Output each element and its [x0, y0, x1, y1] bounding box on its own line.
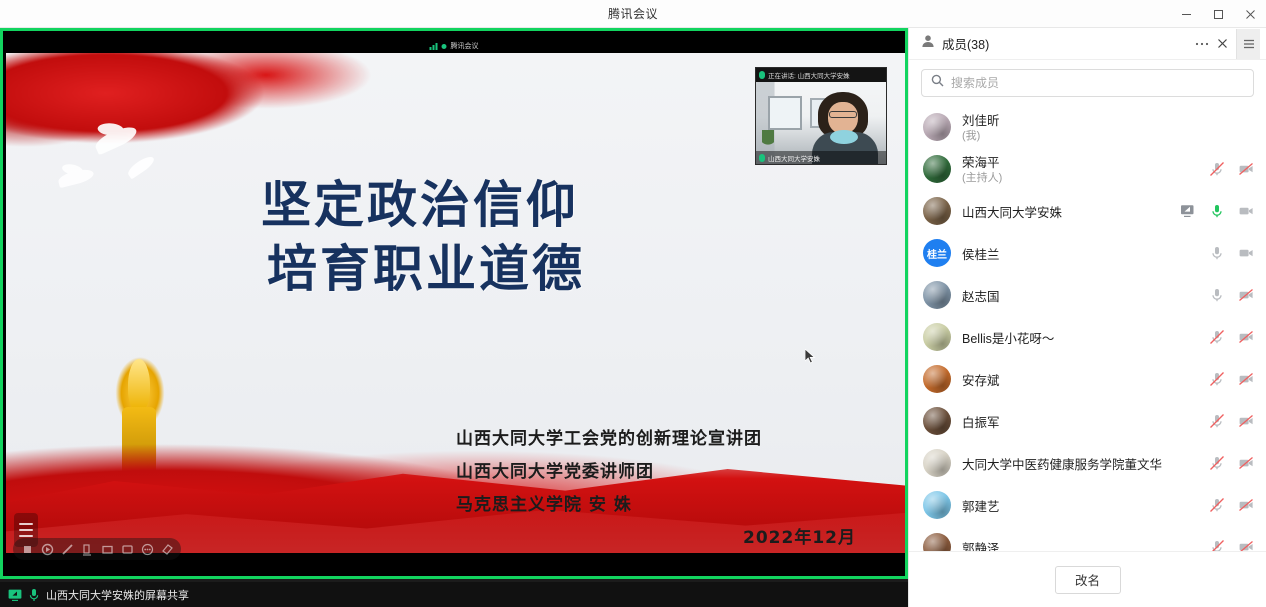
participant-name-block: Bellis是小花呀～	[962, 328, 1198, 347]
camera-off-icon[interactable]	[1238, 287, 1254, 303]
rename-button[interactable]: 改名	[1055, 566, 1121, 594]
participant-row[interactable]: 大同大学中医药健康服务学院董文华	[909, 442, 1266, 484]
share-inner: 腾讯会议 坚定政治信仰 培育职业道德 山西大同大学工会党的创新理论宣讲	[3, 31, 905, 576]
participant-name-block: 侯桂兰	[962, 244, 1198, 263]
mic-on-icon	[759, 71, 765, 79]
participant-row[interactable]: 刘佳昕(我)	[909, 106, 1266, 148]
participant-name: 赵志国	[962, 286, 1198, 305]
mic-muted-icon[interactable]	[1209, 161, 1225, 177]
panel-title: 成员(38)	[942, 34, 1192, 53]
slide-subtitle: 山西大同大学工会党的创新理论宣讲团 山西大同大学党委讲师团 马克思主义学院 安 …	[456, 423, 876, 553]
participant-name: 荣海平	[962, 152, 1198, 171]
person-icon	[921, 34, 935, 53]
participant-name-block: 安存斌	[962, 370, 1198, 389]
text-icon[interactable]	[118, 540, 136, 558]
mic-on-icon	[28, 588, 40, 602]
avatar	[923, 197, 951, 225]
mic-muted-icon[interactable]	[1209, 371, 1225, 387]
avatar: 桂兰	[923, 239, 951, 267]
participant-name: 大同大学中医药健康服务学院董文华	[962, 454, 1198, 473]
mic-on-icon	[759, 154, 765, 162]
participant-status-icons	[1209, 245, 1254, 261]
participant-row[interactable]: 安存斌	[909, 358, 1266, 400]
hamburger-icon[interactable]	[1236, 29, 1260, 59]
red-brush-decoration	[6, 53, 396, 173]
participant-role: (我)	[962, 129, 1198, 144]
participant-status-icons	[1209, 161, 1254, 177]
slide-date: 2022年12月	[456, 522, 876, 553]
participant-name-block: 刘佳昕(我)	[962, 110, 1198, 144]
camera-off-icon[interactable]	[1238, 455, 1254, 471]
pen-icon[interactable]	[58, 540, 76, 558]
participant-row[interactable]: 郭建艺	[909, 484, 1266, 526]
avatar	[923, 407, 951, 435]
participant-status-icons	[1209, 329, 1254, 345]
mic-muted-icon[interactable]	[1209, 539, 1225, 551]
share-status-text: 山西大同大学安姝的屏幕共享	[46, 587, 189, 603]
avatar	[923, 155, 951, 183]
participant-status-icons	[1209, 455, 1254, 471]
maximize-icon[interactable]	[1202, 0, 1234, 28]
pip-plant-decoration	[762, 130, 774, 150]
participant-status-icons	[1209, 497, 1254, 513]
panel-footer: 改名	[909, 551, 1266, 607]
participant-status-icons	[1209, 413, 1254, 429]
more-icon[interactable]	[1192, 32, 1212, 56]
slide-title-line1: 坚定政治信仰	[261, 173, 861, 237]
participant-name: 山西大同大学安姝	[962, 202, 1169, 221]
shape-icon[interactable]	[98, 540, 116, 558]
camera-off-icon[interactable]	[1238, 329, 1254, 345]
avatar	[923, 449, 951, 477]
participant-status-icons	[1209, 539, 1254, 551]
mouse-cursor	[805, 349, 817, 365]
pip-header: 正在讲话: 山西大同大学安姝	[756, 68, 886, 82]
participant-row[interactable]: 山西大同大学安姝	[909, 190, 1266, 232]
participant-name: 刘佳昕	[962, 110, 1198, 129]
share-status-bar: 山西大同大学安姝的屏幕共享	[0, 582, 908, 607]
search-input[interactable]	[951, 76, 1244, 90]
minimize-icon[interactable]	[1170, 0, 1202, 28]
slide-title-line2: 培育职业道德	[261, 237, 861, 301]
annotation-toolbar[interactable]	[13, 538, 181, 560]
meeting-indicator-pill[interactable]: 腾讯会议	[424, 39, 485, 53]
slide-title: 坚定政治信仰 培育职业道德	[261, 173, 861, 301]
participant-status-icons	[1180, 203, 1254, 219]
participant-name-block: 白振军	[962, 412, 1198, 431]
participant-row[interactable]: 赵志国	[909, 274, 1266, 316]
participants-panel: 成员(38) 刘佳昕(我)荣海平(主持人)山西大同大学安姝桂兰侯桂兰赵志国Bel…	[908, 28, 1266, 607]
participant-name-block: 赵志国	[962, 286, 1198, 305]
pip-footer: 山西大同大学安姝	[756, 151, 886, 164]
slide-subtitle-line3: 马克思主义学院 安 姝	[456, 489, 876, 522]
participant-name-block: 荣海平(主持人)	[962, 152, 1198, 186]
participant-name-block: 大同大学中医药健康服务学院董文华	[962, 454, 1198, 473]
avatar	[923, 281, 951, 309]
participant-row[interactable]: 白振军	[909, 400, 1266, 442]
panel-header: 成员(38)	[909, 28, 1266, 60]
pip-video-area: 山西大同大学安姝	[756, 82, 886, 164]
participant-status-icons	[1209, 287, 1254, 303]
camera-off-icon[interactable]	[1238, 497, 1254, 513]
participant-name: Bellis是小花呀～	[962, 328, 1198, 347]
participant-status-icons	[1209, 119, 1254, 135]
participant-status-icons	[1209, 371, 1254, 387]
mic-muted-icon[interactable]	[1209, 455, 1225, 471]
page-title: 腾讯会议	[608, 5, 658, 22]
eraser-icon[interactable]	[158, 540, 176, 558]
record-icon[interactable]	[38, 540, 56, 558]
slide-subtitle-line2: 山西大同大学党委讲师团	[456, 456, 876, 489]
more-icon[interactable]	[138, 540, 156, 558]
camera-on-icon[interactable]	[1238, 119, 1254, 135]
avatar	[923, 491, 951, 519]
participant-name: 白振军	[962, 412, 1198, 431]
camera-off-icon[interactable]	[1238, 413, 1254, 429]
mic-muted-icon[interactable]	[1209, 413, 1225, 429]
mic-on-icon[interactable]	[1209, 287, 1225, 303]
participant-row[interactable]: Bellis是小花呀～	[909, 316, 1266, 358]
recording-dot-icon	[442, 44, 447, 49]
camera-off-icon[interactable]	[1238, 539, 1254, 551]
participant-name-block: 郭静泽	[962, 538, 1198, 552]
pip-window-decoration	[768, 96, 802, 130]
avatar	[923, 365, 951, 393]
close-icon[interactable]	[1212, 32, 1232, 56]
camera-off-icon[interactable]	[1238, 371, 1254, 387]
participant-role: (主持人)	[962, 171, 1198, 186]
signal-icon	[430, 42, 438, 50]
participants-list[interactable]: 刘佳昕(我)荣海平(主持人)山西大同大学安姝桂兰侯桂兰赵志国Bellis是小花呀…	[909, 104, 1266, 551]
screen-share-icon	[1180, 203, 1196, 219]
participant-row[interactable]: 桂兰侯桂兰	[909, 232, 1266, 274]
search-box[interactable]	[921, 69, 1254, 97]
participant-name-block: 山西大同大学安姝	[962, 202, 1169, 221]
avatar	[923, 323, 951, 351]
search-wrapper	[909, 60, 1266, 104]
participant-name: 侯桂兰	[962, 244, 1198, 263]
presenter-video-thumbnail[interactable]: 正在讲话: 山西大同大学安姝	[755, 67, 887, 165]
camera-on-icon[interactable]	[1238, 245, 1254, 261]
search-icon	[931, 74, 944, 92]
mic-on-icon[interactable]	[1209, 203, 1225, 219]
share-frame: 腾讯会议 坚定政治信仰 培育职业道德 山西大同大学工会党的创新理论宣讲	[0, 28, 908, 579]
pip-name-label: 山西大同大学安姝	[768, 153, 820, 163]
participant-name-block: 郭建艺	[962, 496, 1198, 515]
mic-muted-icon[interactable]	[1209, 497, 1225, 513]
screen-share-icon	[8, 589, 22, 601]
participant-name: 安存斌	[962, 370, 1198, 389]
tencent-meeting-window: 腾讯会议 腾讯会议	[0, 0, 1266, 607]
mic-on-icon[interactable]	[1209, 245, 1225, 261]
participant-row[interactable]: 荣海平(主持人)	[909, 148, 1266, 190]
mic-muted-icon[interactable]	[1209, 329, 1225, 345]
mic-on-icon[interactable]	[1209, 119, 1225, 135]
title-bar: 腾讯会议	[0, 0, 1266, 28]
stop-share-icon[interactable]	[18, 540, 36, 558]
shared-screen-stage: 腾讯会议 坚定政治信仰 培育职业道德 山西大同大学工会党的创新理论宣讲	[0, 28, 908, 607]
camera-on-icon[interactable]	[1238, 203, 1254, 219]
dove-icon	[57, 167, 95, 188]
camera-off-icon[interactable]	[1238, 161, 1254, 177]
meeting-pill-label: 腾讯会议	[451, 41, 479, 51]
pip-speaking-label: 正在讲话: 山西大同大学安姝	[768, 70, 850, 80]
participant-row[interactable]: 郭静泽	[909, 526, 1266, 551]
participant-name: 郭静泽	[962, 538, 1198, 552]
highlighter-icon[interactable]	[78, 540, 96, 558]
close-icon[interactable]	[1234, 0, 1266, 28]
window-controls	[1170, 0, 1266, 28]
participant-name: 郭建艺	[962, 496, 1198, 515]
avatar	[923, 113, 951, 141]
avatar	[923, 533, 951, 551]
slide-subtitle-line1: 山西大同大学工会党的创新理论宣讲团	[456, 423, 876, 456]
